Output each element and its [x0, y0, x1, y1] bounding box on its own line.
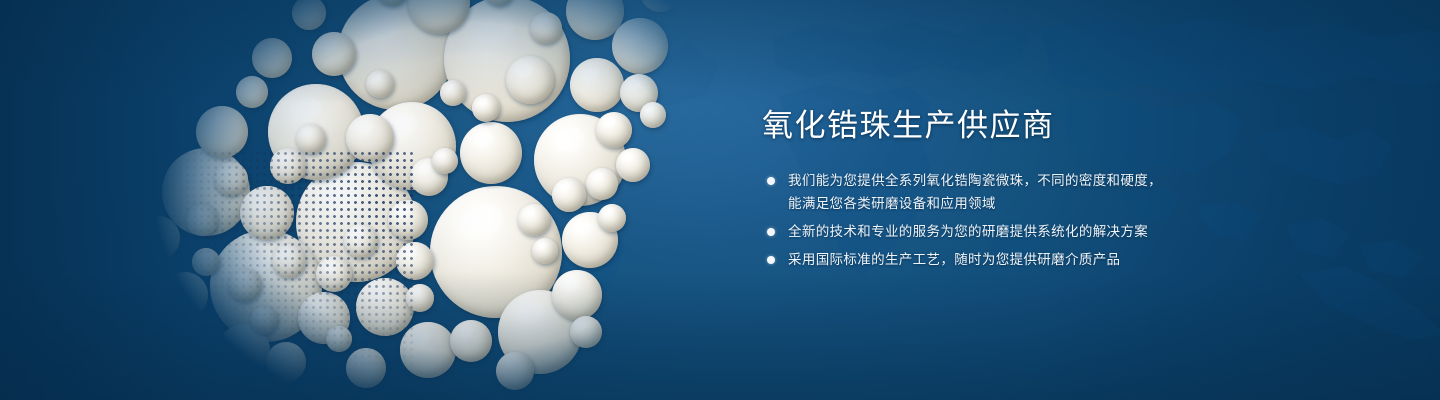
bullet-dot-icon: [767, 228, 775, 236]
bullet-dot-icon: [767, 177, 775, 185]
feature-bullet-list: 我们能为您提供全系列氧化锆陶瓷微珠，不同的密度和硬度， 能满足您各类研磨设备和应…: [762, 169, 1322, 271]
banner-content: 氧化锆珠生产供应商 我们能为您提供全系列氧化锆陶瓷微珠，不同的密度和硬度， 能满…: [762, 108, 1322, 271]
list-item: 采用国际标准的生产工艺，随时为您提供研磨介质产品: [762, 248, 1322, 271]
bullet-text-line: 我们能为您提供全系列氧化锆陶瓷微珠，不同的密度和硬度，: [788, 169, 1322, 192]
bullet-text-line: 采用国际标准的生产工艺，随时为您提供研磨介质产品: [788, 248, 1322, 271]
hero-banner: 氧化锆珠生产供应商 我们能为您提供全系列氧化锆陶瓷微珠，不同的密度和硬度， 能满…: [0, 0, 1440, 400]
bullet-text-line: 全新的技术和专业的服务为您的研磨提供系统化的解决方案: [788, 220, 1322, 243]
bullet-dot-icon: [767, 256, 775, 264]
bullet-text-line: 能满足您各类研磨设备和应用领域: [788, 192, 1322, 215]
page-title: 氧化锆珠生产供应商: [762, 108, 1322, 145]
list-item: 全新的技术和专业的服务为您的研磨提供系统化的解决方案: [762, 220, 1322, 243]
list-item: 我们能为您提供全系列氧化锆陶瓷微珠，不同的密度和硬度， 能满足您各类研磨设备和应…: [762, 169, 1322, 215]
